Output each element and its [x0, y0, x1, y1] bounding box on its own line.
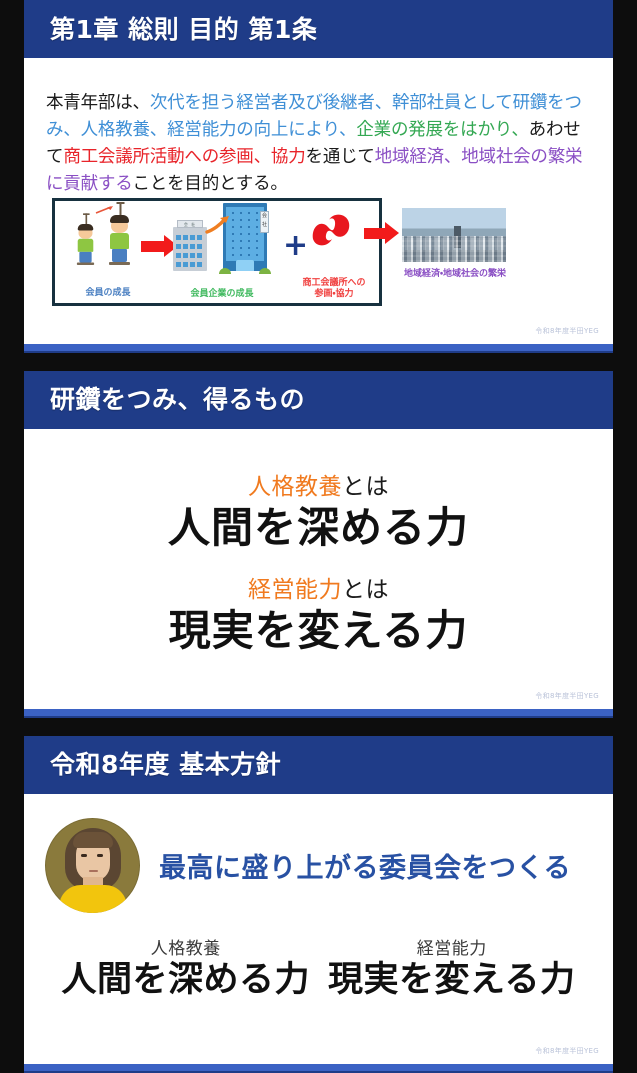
growth-diagram: 会員の成長 会 社 会社 — [52, 198, 382, 306]
clause-segment-6: を通じて — [306, 147, 375, 167]
clause-paragraph: 本青年部は、次代を担う経営者及び後継者、幹部社員として研鑽をつみ、人格教養、経営… — [24, 76, 613, 199]
slide1-accent-bar — [24, 344, 613, 353]
red-arrow-2-icon — [364, 228, 386, 239]
label-member-growth: 会員の成長 — [65, 285, 151, 298]
definition-lead-1: 人格教養とは — [24, 475, 613, 500]
definition-answer-2: 現実を変える力 — [24, 607, 613, 655]
slide2-header: 研鑽をつみ、得るもの — [24, 371, 613, 429]
growth-arrow-icon — [95, 205, 115, 215]
definition-block-2: 経営能力とは 現実を変える力 — [24, 552, 613, 656]
label-cci-line1: 商工会議所への — [291, 278, 377, 289]
slide-basic-policy: 令和8年度 基本方針 最高に盛り上がる委員会をつくる 人格教養 — [24, 736, 613, 1073]
label-company-growth: 会員企業の成長 — [163, 286, 281, 299]
members-people-icon — [71, 207, 145, 273]
slide1-title: 第1章 総則 目的 第1条 — [50, 17, 317, 42]
slide-chapter1: 第1章 総則 目的 第1条 本青年部は、次代を担う経営者及び後継者、幹部社員とし… — [24, 0, 613, 353]
child-large-icon — [109, 218, 130, 265]
slide2-footer: 令和8年度半田YEG — [535, 691, 599, 701]
plus-icon: + — [283, 231, 308, 261]
slide3-title: 令和8年度 基本方針 — [50, 752, 281, 777]
small-building-sign: 会 社 — [177, 220, 203, 228]
orange-arrow-icon — [205, 215, 231, 235]
clause-segment-3: 企業の発展をはかり、 — [356, 120, 528, 140]
slide3-header: 令和8年度 基本方針 — [24, 736, 613, 794]
policy-row: 最高に盛り上がる委員会をつくる — [24, 794, 613, 913]
slide-deck: 第1章 総則 目的 第1条 本青年部は、次代を担う経営者及び後継者、幹部社員とし… — [0, 0, 637, 1024]
policy-keyword-2-label: 経営能力 — [328, 939, 575, 959]
city-photo — [402, 208, 506, 262]
red-arrow-1-icon — [141, 241, 165, 252]
clause-segment-1: 本青年部は、 — [46, 93, 150, 113]
slide2-body: 人格教養とは 人間を深める力 経営能力とは 現実を変える力 令和8年度半田YEG — [24, 429, 613, 709]
policy-keyword-1-value: 人間を深める力 — [62, 959, 311, 1001]
policy-slogan: 最高に盛り上がる委員会をつくる — [159, 846, 571, 885]
definition-block-1: 人格教養とは 人間を深める力 — [24, 429, 613, 553]
slide2-accent-bar — [24, 709, 613, 718]
definition-suffix-1: とは — [342, 474, 389, 500]
small-company-building-icon: 会 社 — [173, 227, 207, 271]
slide1-footer: 令和8年度半田YEG — [535, 326, 599, 336]
slide-what-you-gain: 研鑽をつみ、得るもの 人格教養とは 人間を深める力 経営能力とは 現実を変える力… — [24, 371, 613, 718]
slide3-body: 最高に盛り上がる委員会をつくる 人格教養 人間を深める力 経営能力 現実を変える… — [24, 794, 613, 1064]
slide-gap-2 — [0, 718, 637, 736]
clause-segment-8: ことを目的とする。 — [133, 174, 288, 194]
policy-keywords: 人格教養 人間を深める力 経営能力 現実を変える力 — [24, 913, 613, 1001]
tall-company-building-icon: 会社 — [223, 203, 267, 271]
slide1-body: 本青年部は、次代を担う経営者及び後継者、幹部社員として研鑽をつみ、人格教養、経営… — [24, 76, 613, 344]
label-cci-line2: 参画・協力 — [291, 289, 377, 300]
label-regional-prosperity: 地域経済・地域社会の繁栄 — [392, 266, 518, 279]
definition-answer-1: 人間を深める力 — [24, 504, 613, 552]
keyword-jinkaku-kyoyo: 人格教養 — [248, 474, 342, 500]
policy-keyword-2-value: 現実を変える力 — [328, 959, 575, 1001]
slide1-header: 第1章 総則 目的 第1条 — [24, 0, 613, 58]
slide-gap-1 — [0, 353, 637, 371]
child-small-icon — [77, 226, 94, 265]
label-cci-participation: 商工会議所への 参画・協力 — [291, 278, 377, 301]
definition-suffix-2: とは — [342, 577, 389, 603]
slide2-title: 研鑽をつみ、得るもの — [50, 387, 305, 412]
tall-building-sign: 会社 — [260, 211, 269, 233]
definition-lead-2: 経営能力とは — [24, 578, 613, 603]
jcci-logo-icon — [307, 209, 357, 251]
policy-keyword-2: 経営能力 現実を変える力 — [328, 939, 575, 1001]
policy-keyword-1: 人格教養 人間を深める力 — [62, 939, 311, 1001]
policy-keyword-1-label: 人格教養 — [62, 939, 311, 959]
clause-segment-5: 商工会議所活動への参画、協力 — [63, 147, 305, 167]
avatar — [45, 818, 140, 913]
slide3-footer: 令和8年度半田YEG — [535, 1046, 599, 1056]
keyword-keiei-noryoku: 経営能力 — [248, 577, 342, 603]
slide3-accent-bar — [24, 1064, 613, 1073]
